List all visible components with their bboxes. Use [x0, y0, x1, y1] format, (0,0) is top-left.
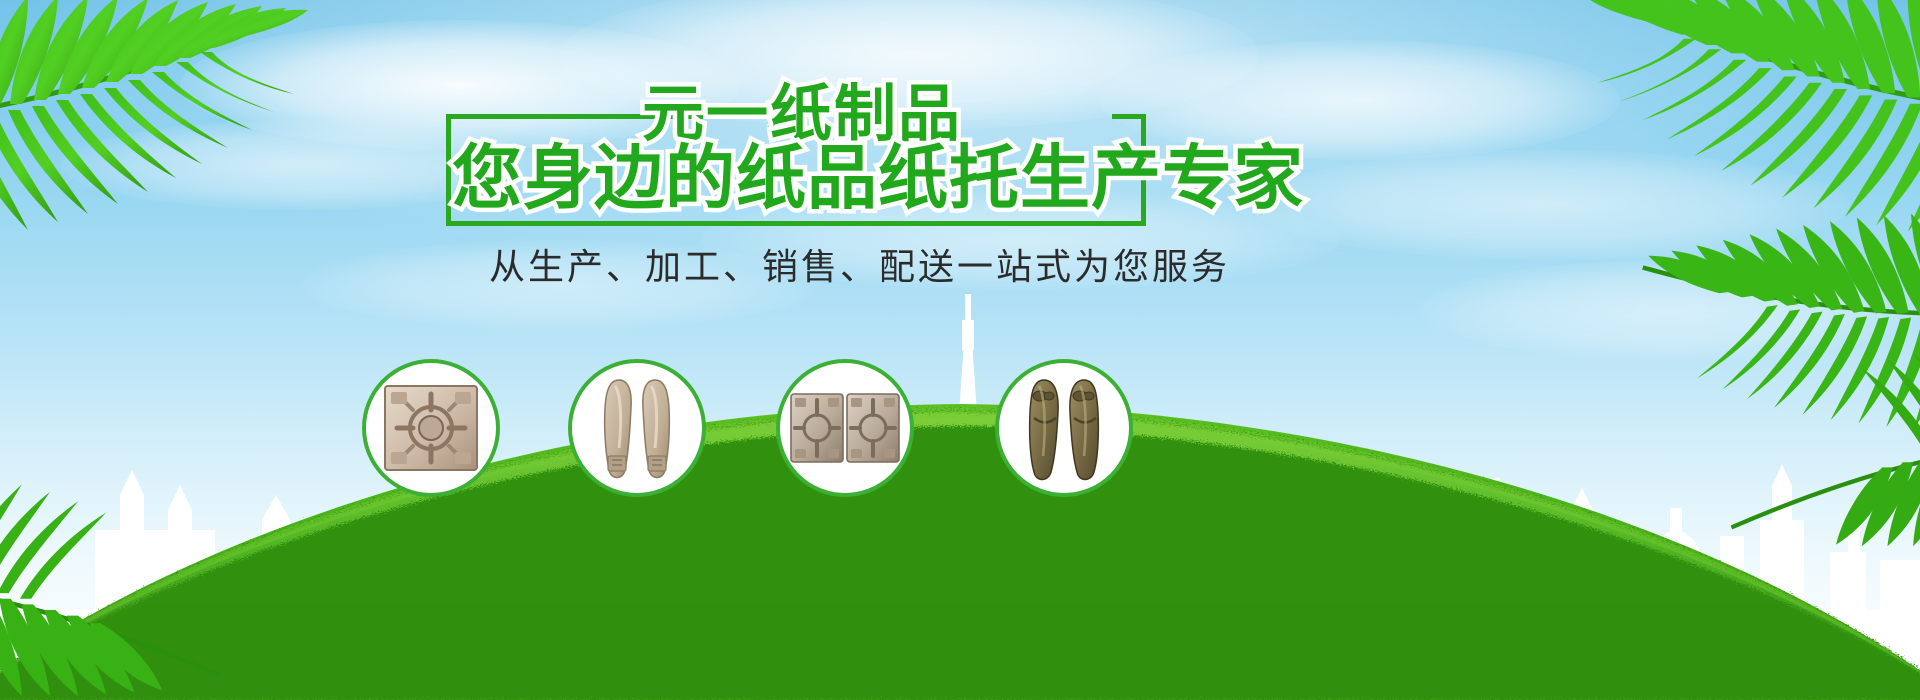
product-circle-4[interactable]: 纸浆鞋撑一对: [995, 359, 1133, 497]
paper-pulp-shoe-tree-pair-icon: [585, 370, 689, 486]
promo-banner: 元一纸制品 您身边的纸品纸托生产专家 从生产、加工、销售、配送一站式为您服务 方…: [0, 0, 1920, 700]
headline-block: 元一纸制品 您身边的纸品纸托生产专家: [446, 96, 1146, 226]
paper-pulp-shoe-insert-pair-icon: [1012, 372, 1116, 484]
paper-pulp-tray-square-icon: [379, 376, 483, 480]
product-circle-2[interactable]: 纸浆鞋楦一对: [568, 359, 706, 497]
frame-line-bottom: [446, 221, 1146, 226]
banner-subtitle: 从生产、加工、销售、配送一站式为您服务: [489, 238, 1189, 290]
headline-line-2: 您身边的纸品纸托生产专家: [452, 138, 1304, 218]
product-circle-1[interactable]: 方形纸浆模塑托盘: [362, 359, 500, 497]
product-circle-3[interactable]: 双格纸浆模塑包装托: [776, 359, 914, 497]
green-hill-icon: [0, 300, 1920, 700]
frame-line-left: [446, 114, 451, 226]
paper-pulp-tray-double-icon: [789, 388, 901, 468]
